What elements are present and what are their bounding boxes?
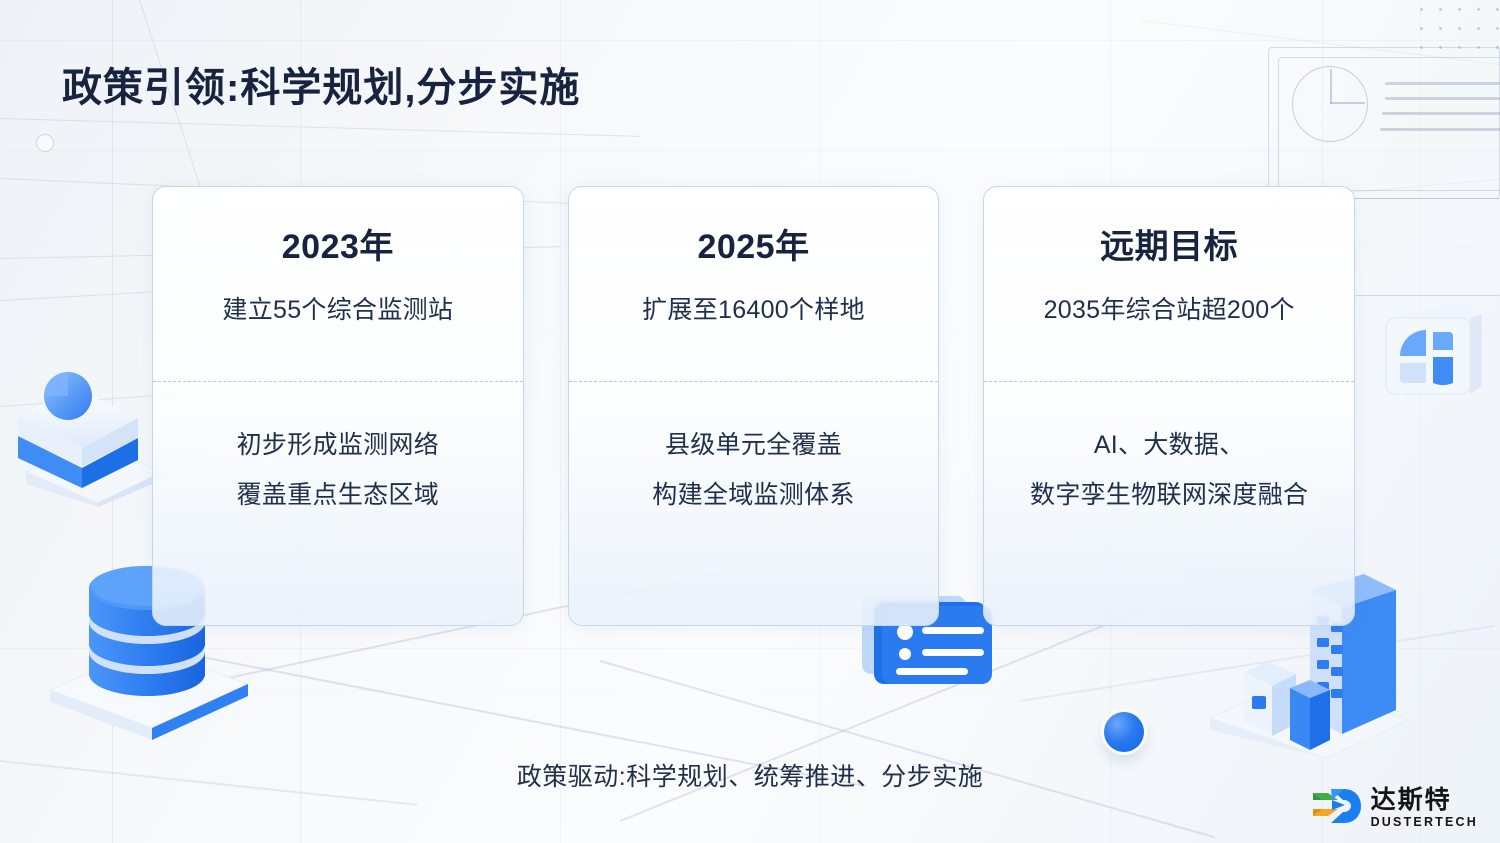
card-year: 远期目标: [1100, 219, 1238, 268]
sphere-on-platform-illustration: [12, 372, 172, 507]
timeline-card-group: 2023年 建立55个综合监测站 初步形成监测网络 覆盖重点生态区域 2025年…: [152, 186, 1355, 626]
dustertech-logo-icon: [1312, 787, 1362, 829]
logo-name-en: DUSTERTECH: [1371, 816, 1478, 829]
card-subtitle: 扩展至16400个样地: [642, 290, 865, 326]
brand-logo: 达斯特 DUSTERTECH: [1312, 787, 1478, 829]
card-detail-list: 初步形成监测网络 覆盖重点生态区域: [153, 425, 523, 511]
card-subtitle: 建立55个综合监测站: [222, 290, 453, 326]
logo-wordmark: 达斯特 DUSTERTECH: [1371, 788, 1478, 829]
card-year: 2025年: [697, 219, 809, 268]
card-detail-list: AI、大数据、 数字孪生物联网深度融合: [984, 425, 1354, 511]
card-detail-line: 县级单元全覆盖: [665, 425, 842, 461]
card-detail-list: 县级单元全覆盖 构建全域监测体系: [569, 425, 939, 511]
card-detail-line: AI、大数据、: [1094, 425, 1245, 461]
card-divider: [569, 381, 939, 382]
timeline-card[interactable]: 远期目标 2035年综合站超200个 AI、大数据、 数字孪生物联网深度融合: [983, 186, 1355, 626]
timeline-card[interactable]: 2025年 扩展至16400个样地 县级单元全覆盖 构建全域监测体系: [568, 186, 940, 626]
blue-sphere-illustration: [1104, 712, 1148, 756]
card-year: 2023年: [282, 219, 394, 268]
card-subtitle: 2035年综合站超200个: [1044, 290, 1295, 326]
quadrant-badge-illustration: [1378, 296, 1490, 402]
card-detail-line: 数字孪生物联网深度融合: [1030, 475, 1308, 511]
card-detail-line: 构建全域监测体系: [652, 475, 854, 511]
card-divider: [153, 381, 523, 382]
slide-title: 政策引领:科学规划,分步实施: [62, 55, 580, 113]
timeline-card[interactable]: 2023年 建立55个综合监测站 初步形成监测网络 覆盖重点生态区域: [152, 186, 524, 626]
slide-canvas: 政策引领:科学规划,分步实施 2023年 建立55个综合监测站 初步形成监测网络…: [0, 0, 1500, 843]
card-detail-line: 覆盖重点生态区域: [237, 475, 439, 511]
logo-name-cn: 达斯特: [1371, 788, 1478, 813]
card-detail-line: 初步形成监测网络: [237, 425, 439, 461]
card-divider: [984, 381, 1354, 382]
footer-note: 政策驱动:科学规划、统筹推进、分步实施: [0, 757, 1500, 793]
